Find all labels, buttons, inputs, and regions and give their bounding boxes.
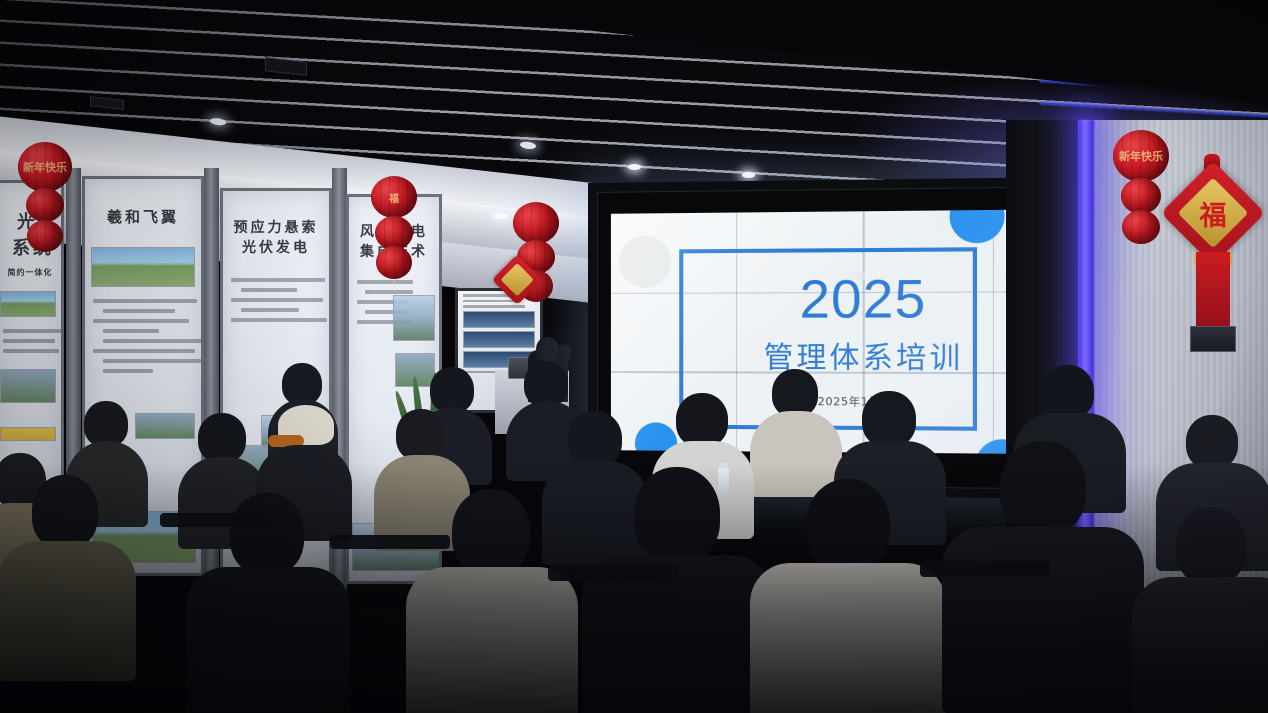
person-head bbox=[806, 479, 890, 571]
lantern-text: 新年快乐 bbox=[18, 142, 72, 192]
person-head bbox=[1042, 365, 1094, 419]
chair bbox=[330, 535, 450, 549]
person-head bbox=[230, 493, 304, 575]
person-body bbox=[406, 567, 578, 713]
conference-room-scene: 光伏 系统 简约一体化 羲和飞翼 bbox=[0, 0, 1268, 713]
slide-decor-dot bbox=[950, 209, 1005, 244]
chinese-knot-fu-character: 福 bbox=[1192, 193, 1234, 233]
water-bottle bbox=[718, 467, 729, 499]
exhibit-panel-1-subtitle: 简约一体化 bbox=[0, 267, 61, 279]
chair bbox=[920, 561, 1050, 577]
person-body bbox=[186, 567, 350, 713]
chinese-knot-base bbox=[1190, 326, 1236, 352]
person-head bbox=[452, 489, 530, 575]
lantern-string-panel2: 福 bbox=[366, 168, 422, 286]
exhibit-panel-2-title: 羲和飞翼 bbox=[85, 207, 201, 229]
person-head bbox=[32, 475, 98, 549]
chinese-knot-tassel bbox=[1196, 252, 1230, 326]
exhibit-panel-2-photo bbox=[91, 247, 195, 287]
lantern-text: 新年快乐 bbox=[1113, 130, 1169, 182]
lantern bbox=[1122, 210, 1160, 244]
person-body bbox=[1132, 577, 1268, 713]
bottle-cap bbox=[720, 463, 727, 468]
lantern bbox=[27, 220, 63, 252]
person-body bbox=[942, 527, 1144, 713]
lantern: 新年快乐 bbox=[1113, 130, 1169, 182]
soffit-downlight bbox=[494, 213, 507, 219]
lantern bbox=[1121, 178, 1161, 214]
person-head bbox=[1000, 441, 1086, 535]
soffit-downlight bbox=[742, 172, 755, 178]
chinese-knot-stage bbox=[498, 258, 536, 301]
exhibit-panel-2-bullets bbox=[85, 293, 201, 373]
person-head bbox=[772, 369, 818, 417]
exhibit-panel-1-photo bbox=[0, 291, 56, 317]
lantern-string-left: 新年快乐 bbox=[14, 130, 76, 260]
person-head bbox=[568, 411, 622, 467]
lantern: 新年快乐 bbox=[18, 142, 72, 192]
exhibit-panel-3-title-line-2: 光伏发电 bbox=[223, 237, 329, 257]
person-head bbox=[198, 413, 246, 463]
soffit-downlight bbox=[628, 164, 641, 170]
lantern bbox=[376, 246, 412, 279]
lantern bbox=[375, 216, 413, 250]
lantern-text: 福 bbox=[371, 176, 417, 218]
chair bbox=[548, 565, 678, 581]
person-head bbox=[676, 393, 728, 447]
lantern-string-right: 新年快乐 bbox=[1110, 120, 1172, 255]
chair bbox=[160, 513, 270, 527]
exhibit-panel-3-bullets bbox=[223, 272, 329, 322]
audience-area bbox=[0, 383, 1268, 713]
person-head bbox=[1186, 415, 1238, 469]
exhibit-panel-3-title-line-1: 预应力悬索 bbox=[223, 217, 329, 237]
person-head bbox=[862, 391, 916, 447]
poster-image bbox=[463, 331, 535, 348]
person-body bbox=[750, 563, 946, 713]
person-body bbox=[0, 541, 136, 681]
person-head bbox=[396, 409, 446, 461]
poster-image bbox=[463, 311, 535, 328]
lantern bbox=[513, 202, 559, 244]
lantern: 福 bbox=[371, 176, 417, 218]
person-body bbox=[542, 461, 648, 565]
exhibit-panel-1-bullets bbox=[0, 323, 61, 353]
person-head bbox=[1176, 507, 1246, 585]
chinese-knot: 福 bbox=[1168, 148, 1260, 378]
person-head bbox=[634, 467, 720, 563]
lantern bbox=[26, 188, 64, 222]
exhibit-panel-4-photo bbox=[393, 295, 435, 341]
